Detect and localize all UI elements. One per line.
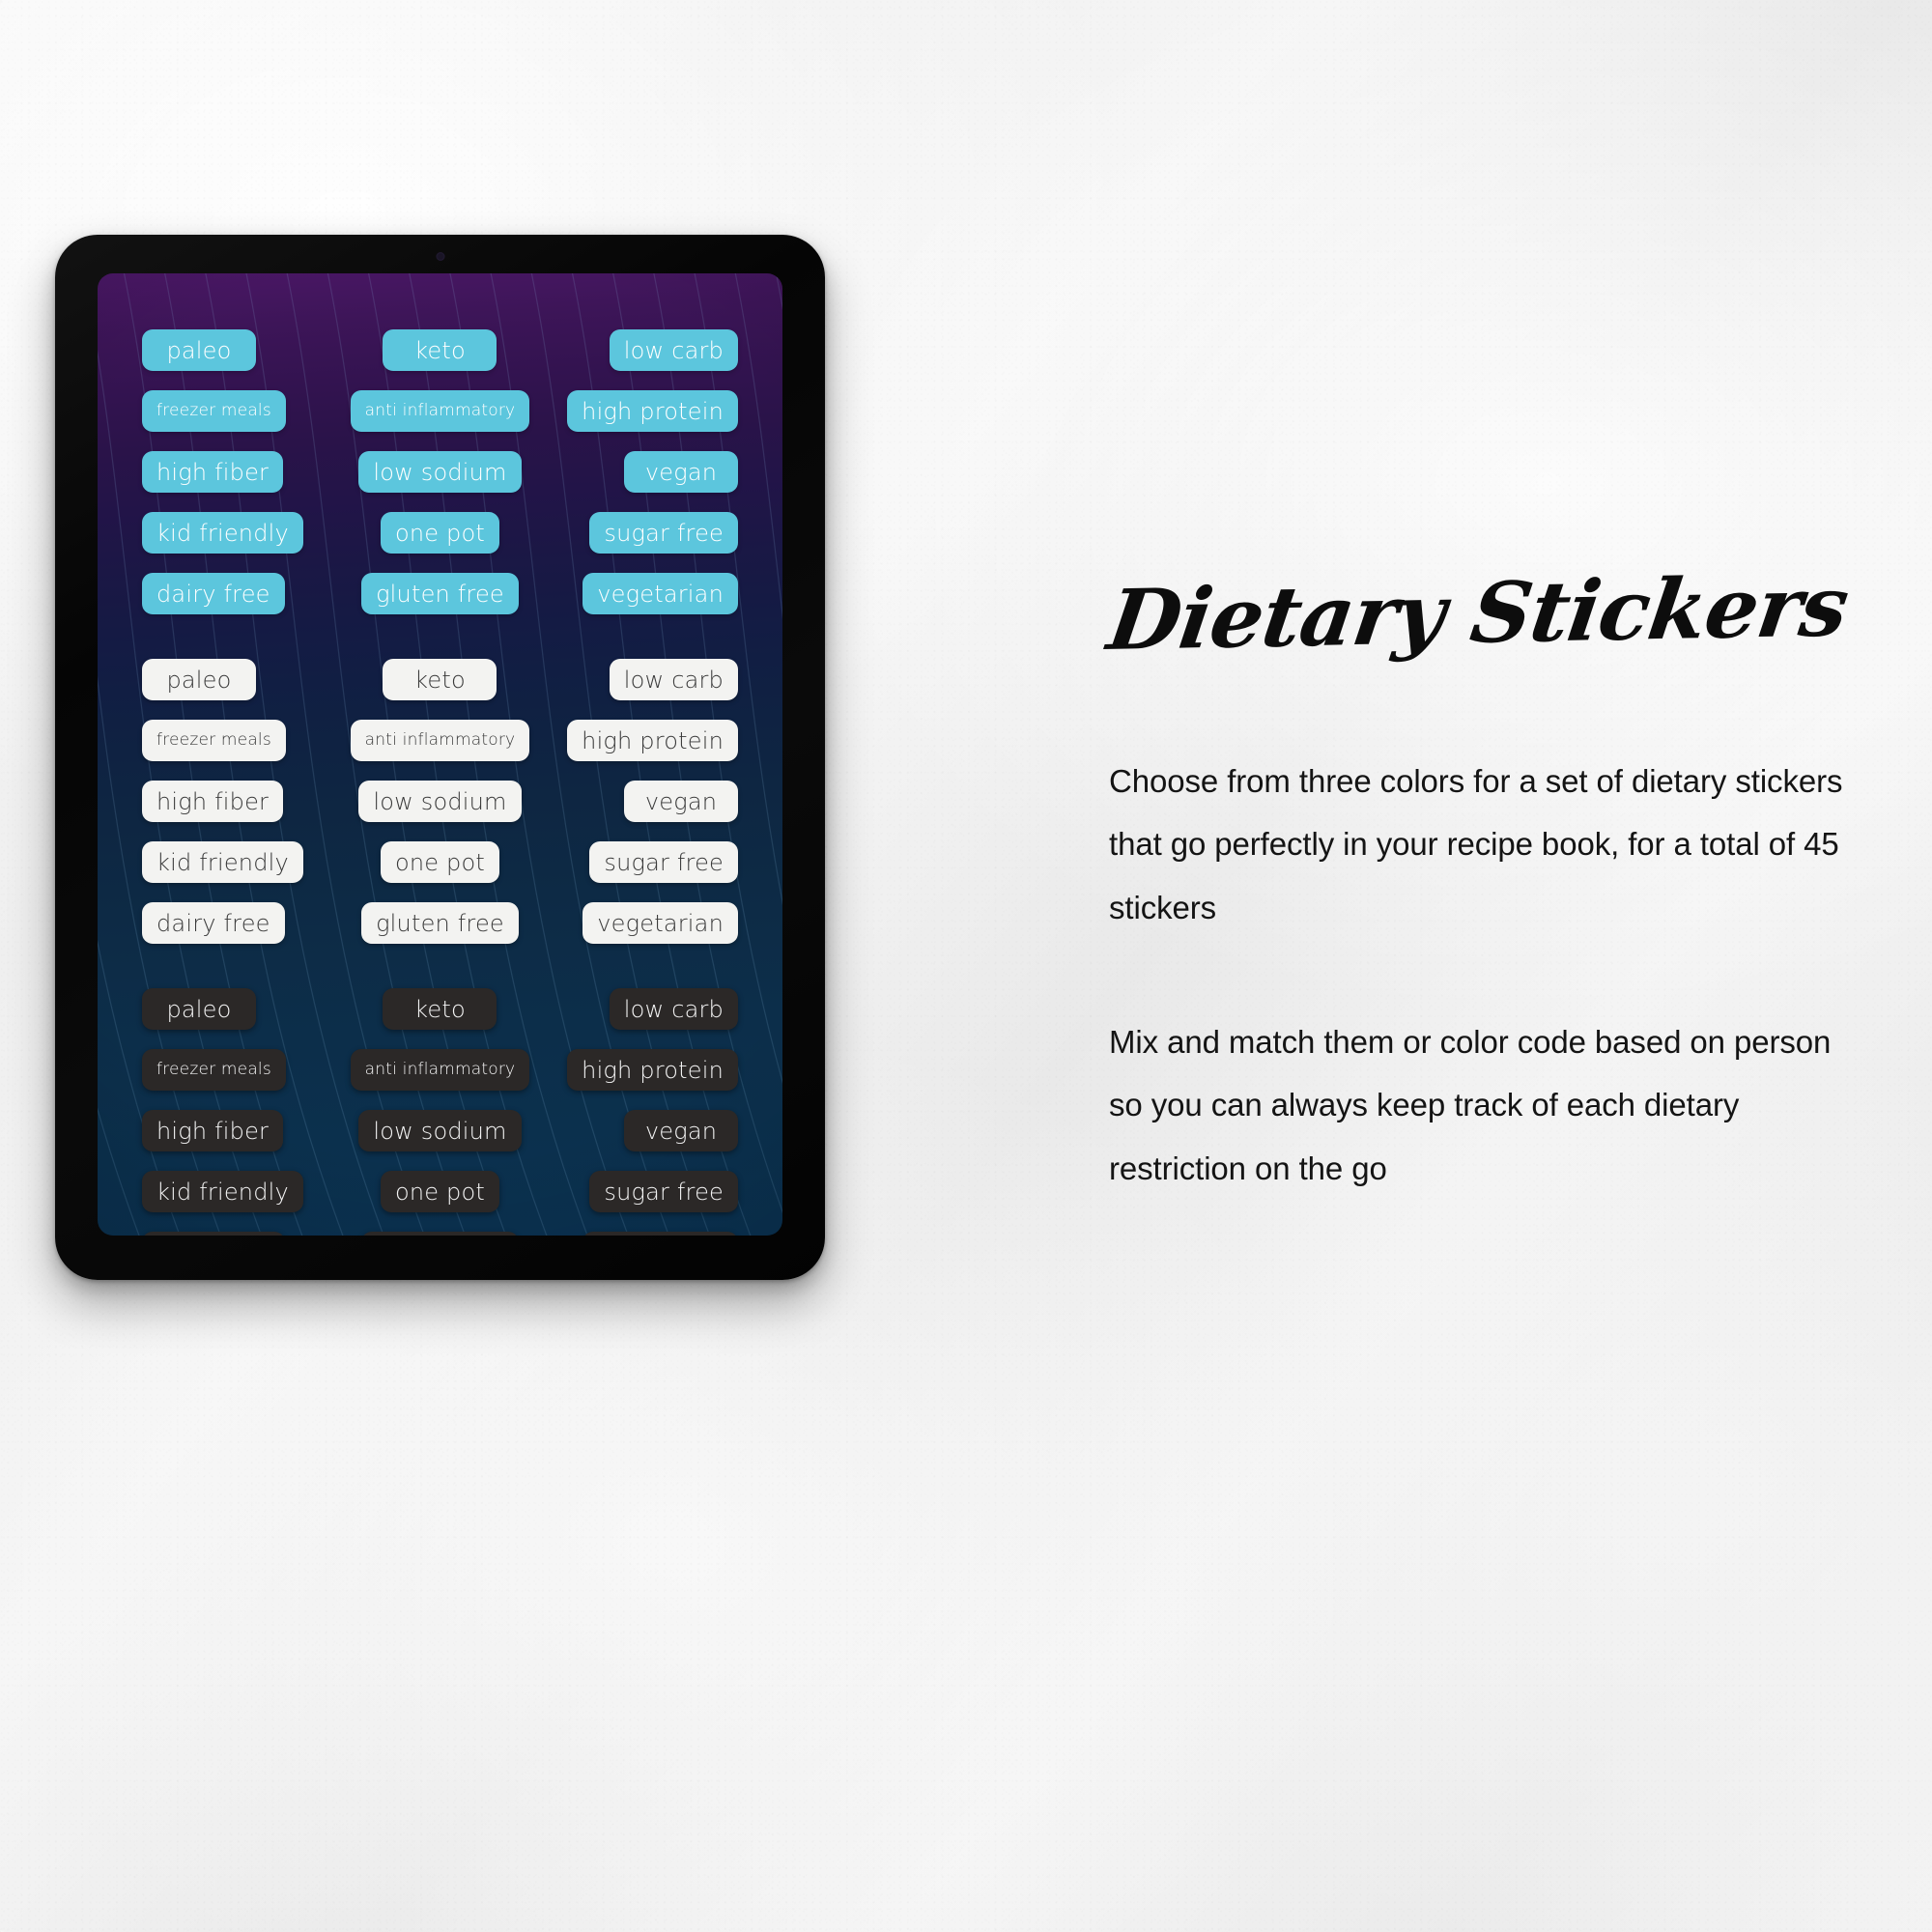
sticker-low-sodium[interactable]: low sodium	[358, 781, 521, 822]
sticker-sugar-free[interactable]: sugar free	[589, 512, 738, 554]
sticker-kid-friendly[interactable]: kid friendly	[142, 841, 303, 883]
sticker-cell: high protein	[547, 720, 738, 761]
sticker-keto[interactable]: keto	[383, 329, 497, 371]
sticker-freezer-meals[interactable]: freezer meals	[142, 1049, 286, 1091]
sticker-row: kid friendlyone potsugar free	[142, 502, 738, 563]
sticker-high-fiber[interactable]: high fiber	[142, 451, 283, 493]
sticker-cell: freezer meals	[142, 390, 333, 432]
sticker-cell: vegetarian	[547, 902, 738, 944]
sticker-paleo[interactable]: paleo	[142, 329, 256, 371]
sticker-cell: gluten free	[345, 902, 536, 944]
sticker-row: dairy freegluten freevegetarian	[142, 563, 738, 624]
tablet-device: paleoketolow carbfreezer mealsanti infla…	[55, 235, 825, 1280]
sticker-cell: paleo	[142, 988, 333, 1030]
copy-panel: Dietary Stickers Choose from three color…	[1109, 580, 1853, 1200]
sticker-row: kid friendlyone potsugar free	[142, 1161, 738, 1222]
sticker-high-protein[interactable]: high protein	[567, 720, 738, 761]
sticker-anti-inflammatory[interactable]: anti inflammatory	[351, 720, 530, 761]
sticker-cell: high fiber	[142, 1110, 333, 1151]
sticker-cell: vegan	[547, 1110, 738, 1151]
sticker-dairy-free[interactable]: dairy free	[142, 902, 285, 944]
sticker-vegan[interactable]: vegan	[624, 451, 738, 493]
sticker-row: dairy freegluten freevegetarian	[142, 893, 738, 953]
sticker-high-fiber[interactable]: high fiber	[142, 781, 283, 822]
sticker-row: high fiberlow sodiumvegan	[142, 771, 738, 832]
sticker-row: freezer mealsanti inflammatoryhigh prote…	[142, 381, 738, 441]
sticker-sugar-free[interactable]: sugar free	[589, 1171, 738, 1212]
sticker-cell: low sodium	[345, 781, 536, 822]
sticker-cell: sugar free	[547, 1171, 738, 1212]
page-title: Dietary Stickers	[1103, 565, 1861, 663]
sticker-cell: freezer meals	[142, 1049, 333, 1091]
sticker-low-sodium[interactable]: low sodium	[358, 1110, 521, 1151]
description-paragraph-2: Mix and match them or color code based o…	[1109, 1010, 1853, 1200]
sticker-gluten-free[interactable]: gluten free	[361, 573, 519, 614]
sticker-cell: anti inflammatory	[345, 390, 536, 432]
sticker-cell: one pot	[345, 1171, 536, 1212]
teal-sticker-set: paleoketolow carbfreezer mealsanti infla…	[142, 320, 738, 624]
sticker-gluten-free[interactable]: gluten free	[361, 902, 519, 944]
sticker-cell: keto	[345, 988, 536, 1030]
sticker-cell: low carb	[547, 329, 738, 371]
sticker-high-protein[interactable]: high protein	[567, 1049, 738, 1091]
sticker-row: paleoketolow carb	[142, 649, 738, 710]
sticker-cell: paleo	[142, 659, 333, 700]
sticker-cell: freezer meals	[142, 720, 333, 761]
sticker-keto[interactable]: keto	[383, 659, 497, 700]
sticker-cell: high fiber	[142, 451, 333, 493]
sticker-low-sodium[interactable]: low sodium	[358, 451, 521, 493]
sticker-cell: vegan	[547, 451, 738, 493]
sticker-anti-inflammatory[interactable]: anti inflammatory	[351, 390, 530, 432]
sticker-high-protein[interactable]: high protein	[567, 390, 738, 432]
sticker-row: paleoketolow carb	[142, 979, 738, 1039]
sticker-cell: keto	[345, 329, 536, 371]
sticker-vegetarian[interactable]: vegetarian	[582, 1232, 738, 1236]
sticker-cell: one pot	[345, 841, 536, 883]
sticker-cell: low carb	[547, 988, 738, 1030]
sticker-vegan[interactable]: vegan	[624, 781, 738, 822]
sticker-row: dairy freegluten freevegetarian	[142, 1222, 738, 1236]
sticker-cell: sugar free	[547, 512, 738, 554]
sticker-row: high fiberlow sodiumvegan	[142, 1100, 738, 1161]
sticker-vegetarian[interactable]: vegetarian	[582, 902, 738, 944]
sticker-row: kid friendlyone potsugar free	[142, 832, 738, 893]
sticker-cell: gluten free	[345, 1232, 536, 1236]
sticker-anti-inflammatory[interactable]: anti inflammatory	[351, 1049, 530, 1091]
sticker-cell: low sodium	[345, 451, 536, 493]
sticker-cell: kid friendly	[142, 841, 333, 883]
camera-dot-icon	[436, 252, 444, 261]
sticker-dairy-free[interactable]: dairy free	[142, 1232, 285, 1236]
sticker-cell: dairy free	[142, 902, 333, 944]
sticker-one-pot[interactable]: one pot	[381, 512, 499, 554]
sticker-high-fiber[interactable]: high fiber	[142, 1110, 283, 1151]
sticker-kid-friendly[interactable]: kid friendly	[142, 1171, 303, 1212]
sticker-vegan[interactable]: vegan	[624, 1110, 738, 1151]
sticker-cell: low carb	[547, 659, 738, 700]
sticker-cell: high fiber	[142, 781, 333, 822]
sticker-cell: sugar free	[547, 841, 738, 883]
sticker-gluten-free[interactable]: gluten free	[361, 1232, 519, 1236]
sticker-low-carb[interactable]: low carb	[610, 659, 738, 700]
sticker-cell: anti inflammatory	[345, 1049, 536, 1091]
sticker-cell: paleo	[142, 329, 333, 371]
sticker-cell: anti inflammatory	[345, 720, 536, 761]
sticker-cell: kid friendly	[142, 512, 333, 554]
sticker-cell: keto	[345, 659, 536, 700]
sticker-freezer-meals[interactable]: freezer meals	[142, 720, 286, 761]
sticker-cell: kid friendly	[142, 1171, 333, 1212]
sticker-cell: gluten free	[345, 573, 536, 614]
tablet-screen: paleoketolow carbfreezer mealsanti infla…	[98, 273, 782, 1236]
sticker-row: freezer mealsanti inflammatoryhigh prote…	[142, 710, 738, 771]
sticker-row: high fiberlow sodiumvegan	[142, 441, 738, 502]
sticker-paleo[interactable]: paleo	[142, 988, 256, 1030]
sticker-low-carb[interactable]: low carb	[610, 988, 738, 1030]
sticker-low-carb[interactable]: low carb	[610, 329, 738, 371]
sticker-kid-friendly[interactable]: kid friendly	[142, 512, 303, 554]
sticker-vegetarian[interactable]: vegetarian	[582, 573, 738, 614]
sticker-cell: low sodium	[345, 1110, 536, 1151]
sticker-cell: vegetarian	[547, 1232, 738, 1236]
dark-sticker-set: paleoketolow carbfreezer mealsanti infla…	[142, 979, 738, 1236]
sticker-one-pot[interactable]: one pot	[381, 1171, 499, 1212]
sticker-sugar-free[interactable]: sugar free	[589, 841, 738, 883]
sticker-keto[interactable]: keto	[383, 988, 497, 1030]
sticker-freezer-meals[interactable]: freezer meals	[142, 390, 286, 432]
sticker-cell: vegetarian	[547, 573, 738, 614]
sticker-dairy-free[interactable]: dairy free	[142, 573, 285, 614]
sticker-row: paleoketolow carb	[142, 320, 738, 381]
sticker-cell: high protein	[547, 390, 738, 432]
sticker-grid-area: paleoketolow carbfreezer mealsanti infla…	[98, 273, 782, 1236]
white-sticker-set: paleoketolow carbfreezer mealsanti infla…	[142, 649, 738, 953]
sticker-cell: dairy free	[142, 1232, 333, 1236]
description-paragraph-1: Choose from three colors for a set of di…	[1109, 750, 1853, 939]
sticker-cell: high protein	[547, 1049, 738, 1091]
sticker-cell: one pot	[345, 512, 536, 554]
sticker-one-pot[interactable]: one pot	[381, 841, 499, 883]
sticker-cell: dairy free	[142, 573, 333, 614]
sticker-cell: vegan	[547, 781, 738, 822]
sticker-row: freezer mealsanti inflammatoryhigh prote…	[142, 1039, 738, 1100]
sticker-paleo[interactable]: paleo	[142, 659, 256, 700]
